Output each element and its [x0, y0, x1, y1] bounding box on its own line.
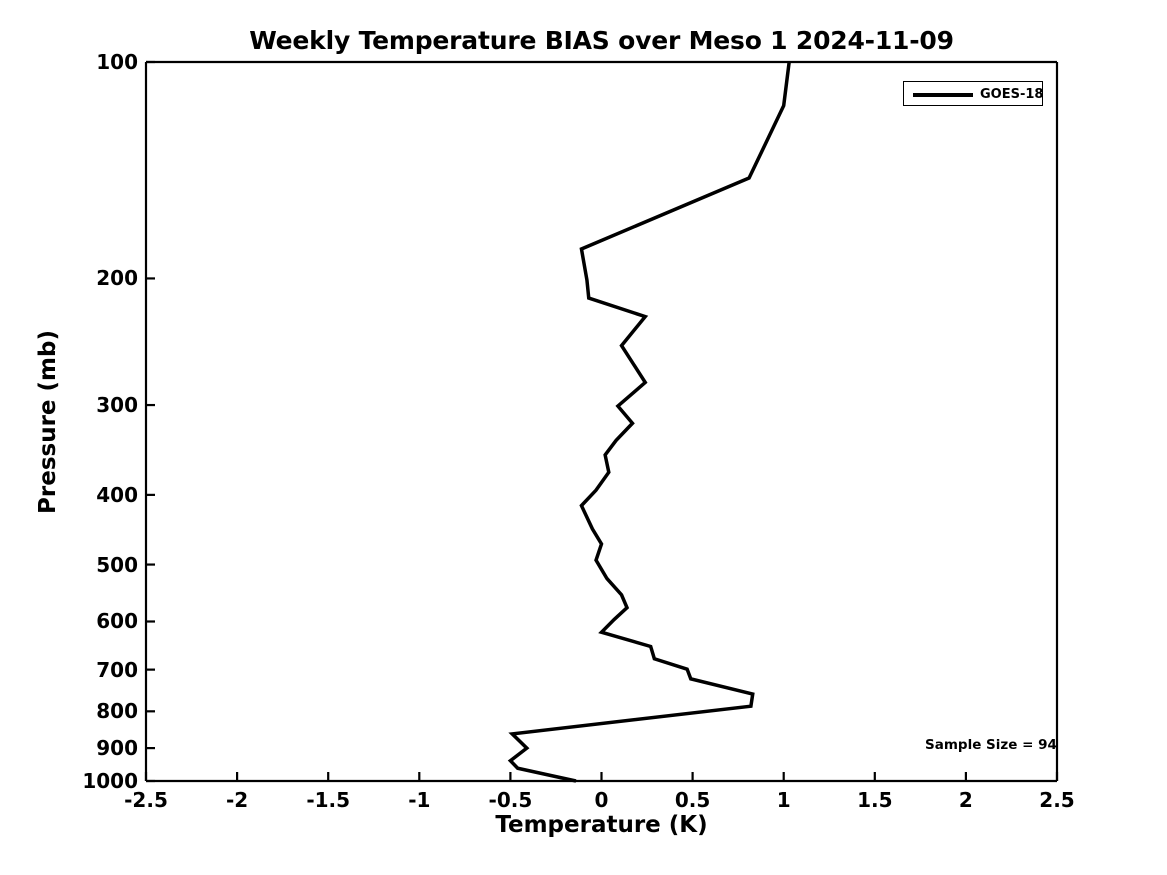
legend-line-sample [913, 93, 973, 97]
chart-title: Weekly Temperature BIAS over Meso 1 2024… [146, 26, 1057, 55]
series-line-goes-18 [510, 62, 789, 781]
axis-tick-marks [146, 62, 1057, 781]
y-tick-label: 400 [96, 483, 138, 507]
y-tick-label: 500 [96, 553, 138, 577]
y-tick-label: 900 [96, 736, 138, 760]
data-series-group [510, 62, 789, 781]
x-tick-label: 0.5 [675, 788, 710, 812]
x-tick-label: -2 [226, 788, 248, 812]
y-tick-label: 600 [96, 609, 138, 633]
x-tick-label: 1.5 [857, 788, 892, 812]
y-axis-label: Pressure (mb) [35, 330, 61, 514]
x-axis-label: Temperature (K) [146, 812, 1057, 838]
y-tick-label: 100 [96, 50, 138, 74]
x-tick-label: 1 [777, 788, 791, 812]
x-tick-label: 2.5 [1039, 788, 1074, 812]
x-tick-label: 2 [959, 788, 973, 812]
legend: GOES-18 [903, 81, 1043, 106]
y-tick-label: 700 [96, 658, 138, 682]
x-tick-label: -1.5 [306, 788, 350, 812]
y-tick-label: 200 [96, 266, 138, 290]
y-tick-label: 800 [96, 699, 138, 723]
chart-figure: Weekly Temperature BIAS over Meso 1 2024… [0, 0, 1167, 875]
y-tick-label: 1000 [82, 769, 138, 793]
x-tick-label: 0 [595, 788, 609, 812]
legend-label: GOES-18 [980, 87, 1043, 102]
sample-size-annotation: Sample Size = 94 [925, 737, 1057, 753]
x-tick-label: -1 [408, 788, 430, 812]
y-tick-label: 300 [96, 393, 138, 417]
x-tick-label: -0.5 [489, 788, 533, 812]
axis-frame [146, 62, 1057, 781]
